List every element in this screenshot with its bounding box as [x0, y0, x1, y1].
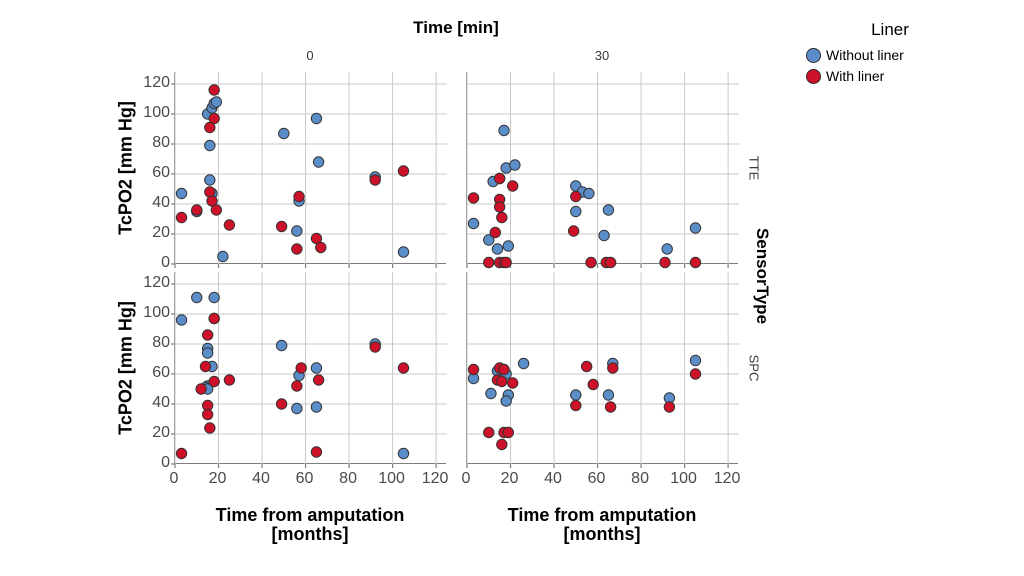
row-strip-label-1: SPC [747, 355, 762, 382]
data-point [497, 376, 507, 386]
data-point [205, 122, 215, 132]
data-point [503, 241, 513, 251]
data-point [603, 390, 613, 400]
data-point [494, 202, 504, 212]
data-point [492, 244, 502, 254]
data-point [209, 376, 219, 386]
data-point [507, 181, 517, 191]
data-point [605, 402, 615, 412]
data-point [503, 427, 513, 437]
data-point [571, 206, 581, 216]
y-tick-label-r1-2: 40 [134, 394, 170, 412]
legend-item-label: Without liner [826, 47, 904, 63]
column-strip-label-0: 0 [174, 48, 446, 63]
panel-plot-area [467, 272, 739, 464]
data-point [276, 340, 286, 350]
y-tick-label-r1-5: 100 [134, 304, 170, 322]
x-tick-label-c0-1: 20 [193, 470, 243, 488]
data-point [209, 292, 219, 302]
data-point [468, 218, 478, 228]
data-point [211, 205, 221, 215]
x-axis-title-line1: Time from amputation [466, 506, 738, 525]
x-tick-label-c1-1: 20 [485, 470, 535, 488]
data-point [490, 227, 500, 237]
data-point [176, 188, 186, 198]
x-tick-label-c1-6: 120 [702, 470, 752, 488]
data-point [196, 384, 206, 394]
y-tick-label-r1-6: 120 [134, 274, 170, 292]
data-point [398, 363, 408, 373]
data-point [370, 175, 380, 185]
data-point [292, 244, 302, 254]
data-point [571, 390, 581, 400]
data-point [205, 175, 215, 185]
x-tick-label-c1-0: 0 [441, 470, 491, 488]
data-point [316, 242, 326, 252]
data-point [311, 113, 321, 123]
series-without-liner [468, 125, 700, 254]
data-point [568, 226, 578, 236]
y-tick-label-r0-1: 20 [134, 224, 170, 242]
legend-item-1[interactable]: With liner [806, 68, 884, 84]
x-tick-label-c1-4: 80 [615, 470, 665, 488]
data-point [584, 188, 594, 198]
data-point [209, 313, 219, 323]
data-point [292, 381, 302, 391]
x-tick-label-c1-2: 40 [528, 470, 578, 488]
x-axis-title-col-1: Time from amputation[months] [466, 506, 738, 545]
x-tick-marks [175, 464, 436, 468]
panel-tte-30 [466, 72, 738, 264]
x-axis-title-col-0: Time from amputation[months] [174, 506, 446, 545]
data-point [205, 423, 215, 433]
panel-plot-area [175, 72, 447, 264]
data-point [398, 247, 408, 257]
data-point [209, 85, 219, 95]
column-facet-title: Time [min] [174, 18, 738, 38]
data-point [518, 358, 528, 368]
data-point [218, 251, 228, 261]
data-point [497, 439, 507, 449]
y-tick-label-r0-0: 0 [134, 254, 170, 272]
panel-plot-area [467, 72, 739, 264]
x-tick-label-c0-5: 100 [367, 470, 417, 488]
data-point [586, 257, 596, 267]
legend-swatch-1 [806, 69, 821, 84]
data-point [581, 361, 591, 371]
data-point [690, 257, 700, 267]
data-point [599, 230, 609, 240]
data-point [690, 355, 700, 365]
data-point [294, 191, 304, 201]
data-point [690, 223, 700, 233]
y-tick-label-r0-3: 60 [134, 164, 170, 182]
data-point [690, 369, 700, 379]
data-point [571, 191, 581, 201]
data-point [176, 212, 186, 222]
data-point [501, 257, 511, 267]
data-point [313, 157, 323, 167]
x-tick-label-c1-5: 100 [659, 470, 709, 488]
row-strip-label-0: TTE [747, 156, 762, 181]
data-point [176, 448, 186, 458]
legend-item-label: With liner [826, 68, 884, 84]
x-tick-label-c0-2: 40 [236, 470, 286, 488]
data-point [660, 257, 670, 267]
data-point [202, 348, 212, 358]
x-tick-label-c0-0: 0 [149, 470, 199, 488]
panel-tte-0 [174, 72, 446, 264]
data-point [468, 193, 478, 203]
scatter-plot-matrix-figure: Time [min]030SensorTypeTTESPCTcPO2 [mm H… [0, 0, 1024, 576]
y-tick-label-r0-6: 120 [134, 74, 170, 92]
data-point [468, 364, 478, 374]
data-point [211, 97, 221, 107]
y-tick-label-r1-4: 80 [134, 334, 170, 352]
data-point [313, 375, 323, 385]
data-point [664, 402, 674, 412]
x-tick-marks [467, 464, 728, 468]
x-axis-title-line1: Time from amputation [174, 506, 446, 525]
data-point [202, 409, 212, 419]
legend-item-0[interactable]: Without liner [806, 47, 904, 63]
data-point [276, 399, 286, 409]
data-point [311, 447, 321, 457]
y-tick-label-r1-1: 20 [134, 424, 170, 442]
y-tick-marks [171, 84, 175, 264]
data-point [224, 220, 234, 230]
panel-spc-30 [466, 272, 738, 464]
legend-swatch-0 [806, 48, 821, 63]
data-point [296, 363, 306, 373]
data-point [507, 378, 517, 388]
data-point [192, 292, 202, 302]
data-point [499, 125, 509, 135]
x-tick-label-c1-3: 60 [572, 470, 622, 488]
row-facet-title: SensorType [752, 228, 772, 324]
data-point [202, 330, 212, 340]
y-tick-label-r0-5: 100 [134, 104, 170, 122]
data-point [276, 221, 286, 231]
series-with-liner [176, 313, 408, 458]
data-point [603, 205, 613, 215]
data-point [588, 379, 598, 389]
y-tick-marks [171, 284, 175, 464]
data-point [501, 396, 511, 406]
data-point [510, 160, 520, 170]
data-point [370, 342, 380, 352]
data-point [398, 448, 408, 458]
data-point [499, 364, 509, 374]
panel-spc-0 [174, 272, 446, 464]
data-point [484, 427, 494, 437]
legend-title: Liner [800, 20, 980, 40]
data-point [484, 257, 494, 267]
data-point [192, 205, 202, 215]
y-tick-label-r0-4: 80 [134, 134, 170, 152]
data-point [311, 402, 321, 412]
data-point [497, 212, 507, 222]
data-point [292, 226, 302, 236]
y-tick-label-r0-2: 40 [134, 194, 170, 212]
data-point [662, 244, 672, 254]
data-point [571, 400, 581, 410]
data-point [200, 361, 210, 371]
x-axis-title-line2: [months] [466, 525, 738, 544]
data-point [292, 403, 302, 413]
data-point [494, 173, 504, 183]
data-point [205, 140, 215, 150]
data-point [398, 166, 408, 176]
column-strip-label-1: 30 [466, 48, 738, 63]
x-tick-marks [175, 264, 436, 268]
data-point [311, 363, 321, 373]
y-tick-label-r1-3: 60 [134, 364, 170, 382]
panel-plot-area [175, 272, 447, 464]
data-point [224, 375, 234, 385]
data-point [279, 128, 289, 138]
x-axis-title-line2: [months] [174, 525, 446, 544]
x-tick-label-c0-3: 60 [280, 470, 330, 488]
x-tick-label-c0-4: 80 [323, 470, 373, 488]
data-point [486, 388, 496, 398]
data-point [605, 257, 615, 267]
data-point [176, 315, 186, 325]
data-point [608, 363, 618, 373]
